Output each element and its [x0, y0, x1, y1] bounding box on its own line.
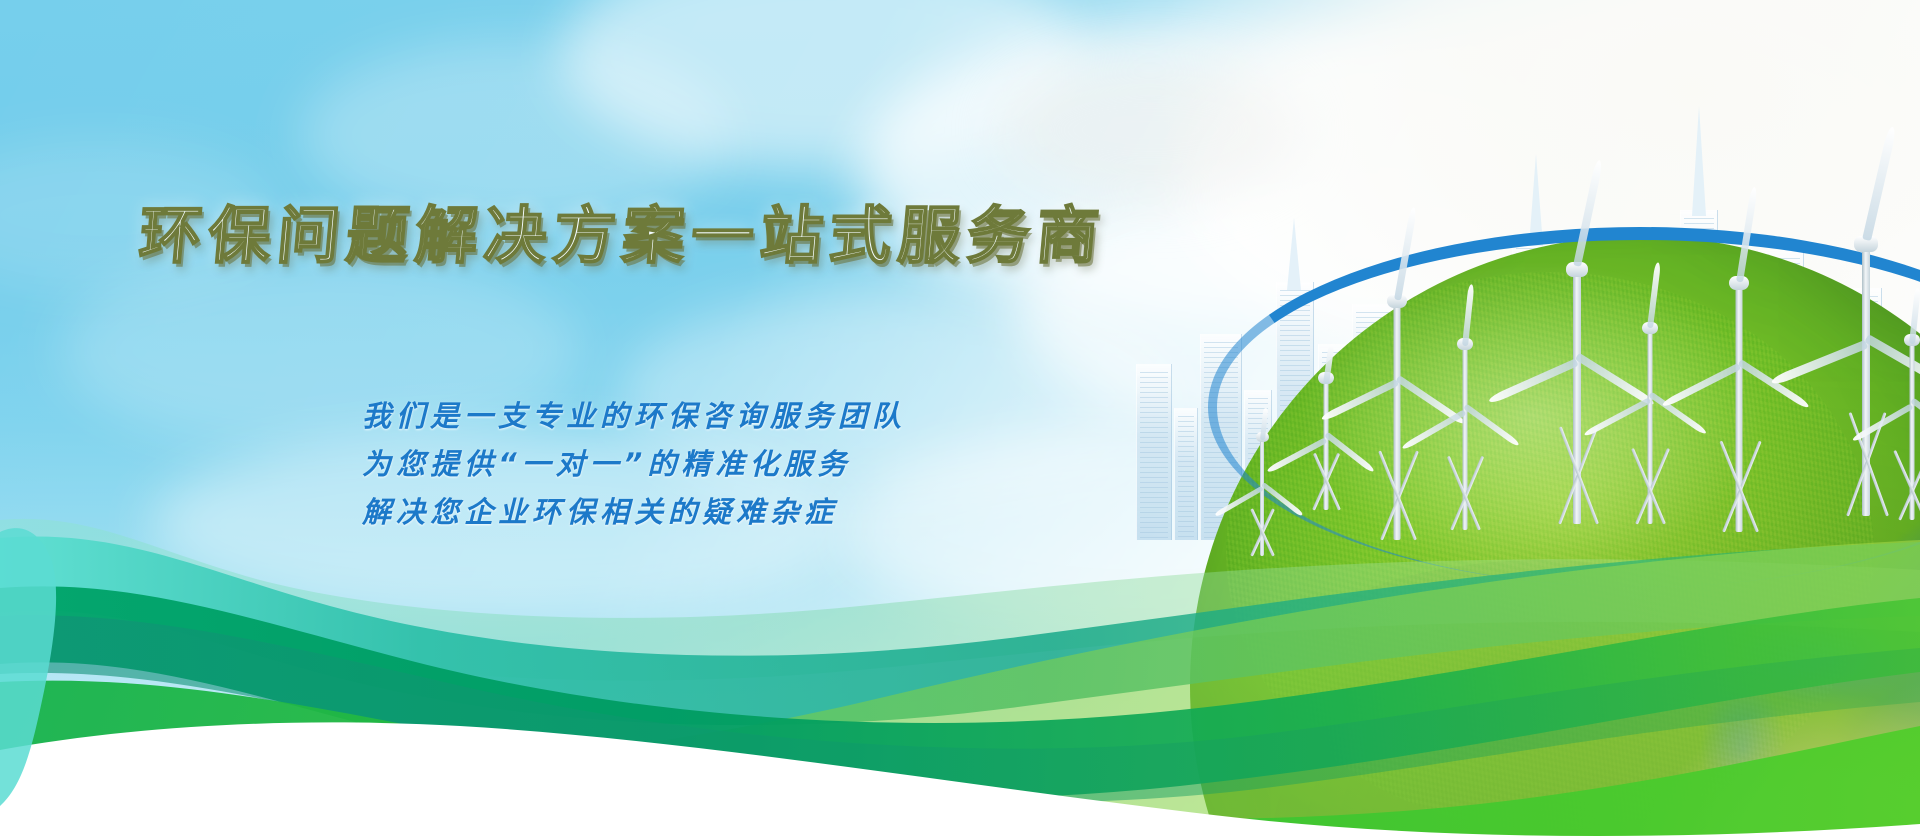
eco-hero-banner: 环保问题解决方案一站式服务商 我们是一支专业的环保咨询服务团队 为您提供“一对一…: [0, 0, 1920, 840]
page-title: 环保问题解决方案一站式服务商: [136, 185, 1110, 275]
subcopy-line-3: 解决您企业环保相关的疑难杂症: [362, 488, 906, 536]
subcopy-block: 我们是一支专业的环保咨询服务团队 为您提供“一对一”的精准化服务 解决您企业环保…: [362, 392, 906, 536]
subcopy-line-1: 我们是一支专业的环保咨询服务团队: [362, 392, 906, 440]
subcopy-line-2: 为您提供“一对一”的精准化服务: [362, 440, 906, 488]
sky-background: [0, 0, 1920, 840]
